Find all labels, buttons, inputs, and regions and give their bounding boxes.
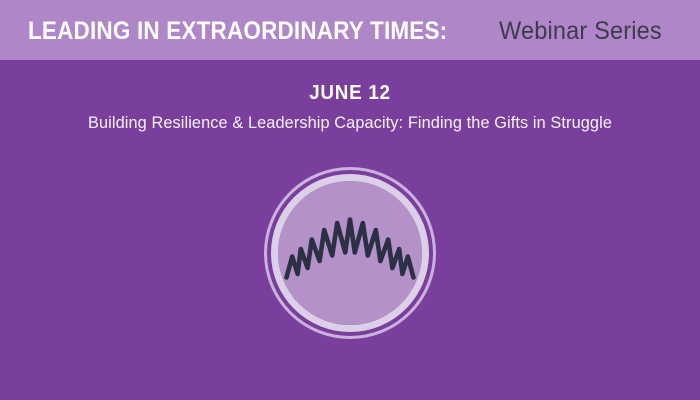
series-title: LEADING IN EXTRAORDINARY TIMES: [28,17,447,46]
event-date: JUNE 12 [21,82,679,105]
webinar-promo-banner: LEADING IN EXTRAORDINARY TIMES: Webinar … [0,0,700,400]
main-content-area: JUNE 12 Building Resilience & Leadership… [0,60,700,400]
event-subtitle: Building Resilience & Leadership Capacit… [14,113,686,133]
header-title-line: LEADING IN EXTRAORDINARY TIMES: Webinar … [28,17,672,46]
logo-badge-graphic [264,167,436,339]
logo-badge [264,167,436,339]
header-band: LEADING IN EXTRAORDINARY TIMES: Webinar … [0,0,700,60]
series-subtitle: Webinar Series [499,17,662,46]
